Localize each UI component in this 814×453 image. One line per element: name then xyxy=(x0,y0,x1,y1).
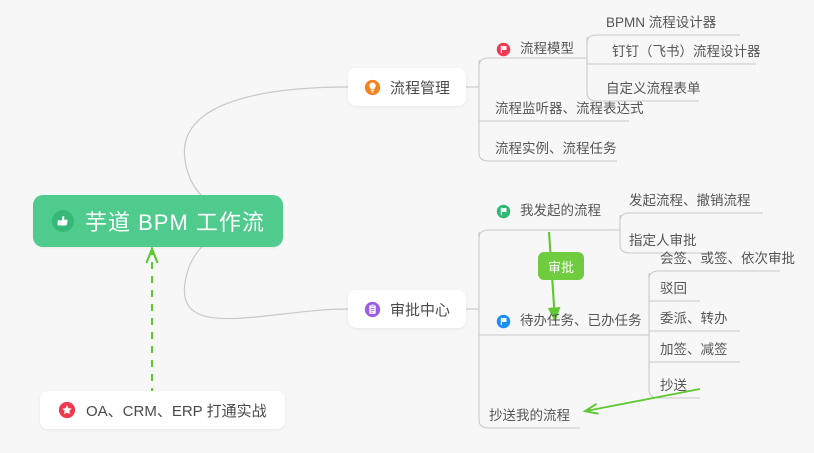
node-my-initiated-process[interactable]: 我发起的流程 xyxy=(492,200,605,222)
node-process-model[interactable]: 流程模型 xyxy=(492,38,578,60)
label-bpmn-designer: BPMN 流程设计器 xyxy=(606,15,716,31)
node-process-listener-expression[interactable]: 流程监听器、流程表达式 xyxy=(491,98,648,120)
connector-start-cancel xyxy=(620,213,763,221)
node-reject[interactable]: 驳回 xyxy=(656,278,691,300)
flag-icon xyxy=(496,42,511,57)
label-cc-to-me-process: 抄送我的流程 xyxy=(489,408,570,424)
node-process-instance-task[interactable]: 流程实例、流程任务 xyxy=(491,138,621,160)
label-countersign-orsign-sequential: 会签、或签、依次审批 xyxy=(660,251,795,267)
label-my-initiated-process: 我发起的流程 xyxy=(520,203,601,219)
approval-badge[interactable]: 审批 xyxy=(538,252,584,280)
node-delegate-transfer[interactable]: 委派、转办 xyxy=(656,308,732,330)
approval-badge-label: 审批 xyxy=(548,257,574,276)
label-cc: 抄送 xyxy=(660,378,687,394)
label-assignee-approval: 指定人审批 xyxy=(629,233,697,249)
label-start-cancel-process: 发起流程、撤销流程 xyxy=(629,193,751,209)
node-cc[interactable]: 抄送 xyxy=(656,375,691,397)
root-node[interactable]: 芋道 BPM 工作流 xyxy=(33,195,283,247)
note-node-integration[interactable]: OA、CRM、ERP 打通实战 xyxy=(40,391,285,429)
node-add-remove-sign[interactable]: 加签、减签 xyxy=(656,339,732,361)
label-add-remove-sign: 加签、减签 xyxy=(660,342,728,358)
node-start-cancel-process[interactable]: 发起流程、撤销流程 xyxy=(625,190,755,212)
node-cc-to-me-process[interactable]: 抄送我的流程 xyxy=(485,405,574,427)
flag-icon xyxy=(496,204,511,219)
label-process-model: 流程模型 xyxy=(520,41,574,57)
star-icon xyxy=(58,401,76,419)
note-label: OA、CRM、ERP 打通实战 xyxy=(86,400,267,421)
clipboard-icon xyxy=(364,301,381,318)
connector-my-initiated xyxy=(479,230,612,238)
thumbs-up-icon xyxy=(51,209,75,233)
node-countersign-orsign-sequential[interactable]: 会签、或签、依次审批 xyxy=(656,248,799,270)
branch-node-approval-center[interactable]: 审批中心 xyxy=(348,290,466,328)
branch-node-process-management[interactable]: 流程管理 xyxy=(348,68,466,106)
node-todo-done-tasks[interactable]: 待办任务、已办任务 xyxy=(492,310,646,332)
node-dingtalk-feishu-designer[interactable]: 钉钉（飞书）流程设计器 xyxy=(608,41,765,63)
branch-label-approval-center: 审批中心 xyxy=(390,299,450,320)
label-todo-done-tasks: 待办任务、已办任务 xyxy=(520,313,642,329)
label-process-listener-expression: 流程监听器、流程表达式 xyxy=(495,101,644,117)
lightbulb-icon xyxy=(364,79,381,96)
root-label: 芋道 BPM 工作流 xyxy=(85,205,265,237)
node-custom-process-form[interactable]: 自定义流程表单 xyxy=(602,78,705,100)
branch-label-process-management: 流程管理 xyxy=(390,77,450,98)
label-process-instance-task: 流程实例、流程任务 xyxy=(495,141,617,157)
flag-icon xyxy=(496,314,511,329)
label-dingtalk-feishu-designer: 钉钉（飞书）流程设计器 xyxy=(612,44,761,60)
mindmap-canvas: 芋道 BPM 工作流 流程管理 流程模型 BPMN 流程设计器 钉 xyxy=(0,0,814,453)
label-reject: 驳回 xyxy=(660,281,687,297)
label-custom-process-form: 自定义流程表单 xyxy=(606,81,701,97)
node-bpmn-designer[interactable]: BPMN 流程设计器 xyxy=(602,12,720,34)
label-delegate-transfer: 委派、转办 xyxy=(660,311,728,327)
